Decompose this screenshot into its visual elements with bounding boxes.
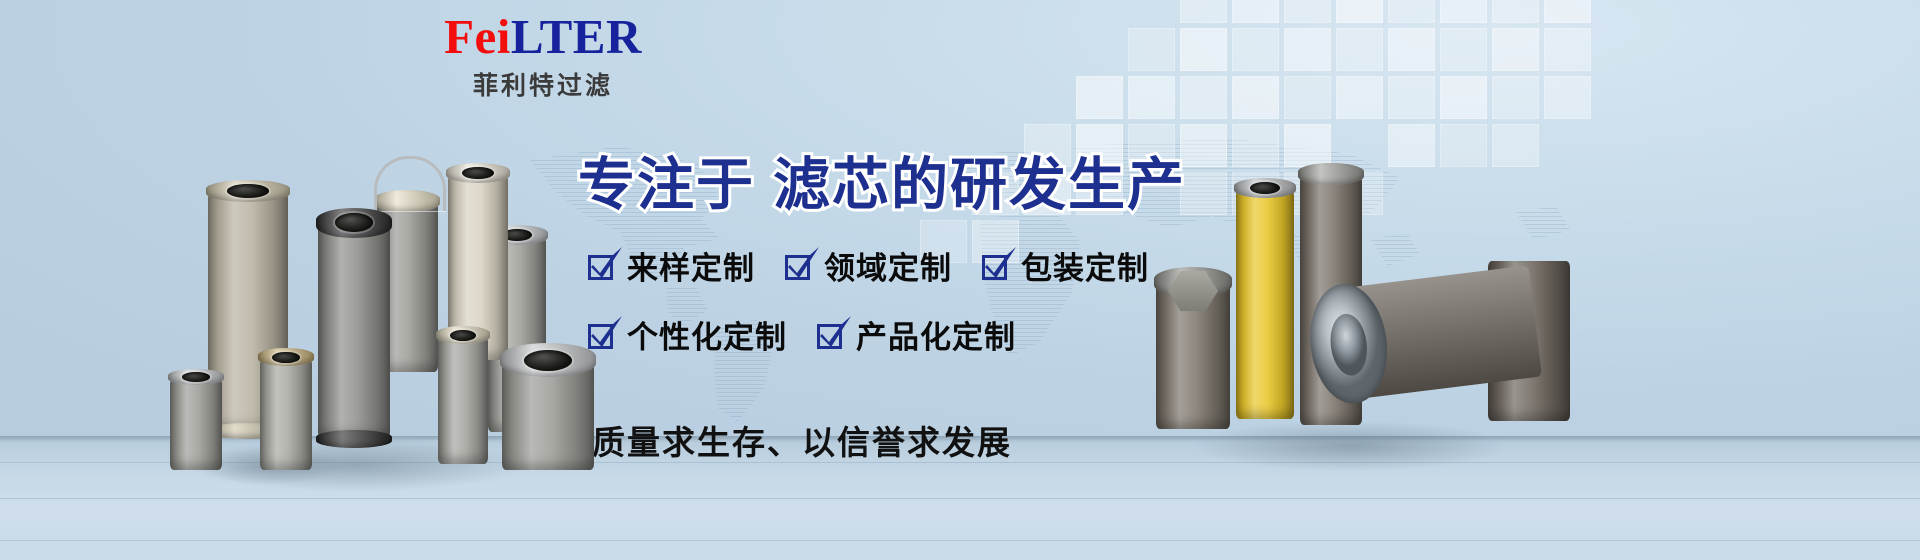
cartridge-bore [227, 184, 269, 198]
filter-cartridge-group-left [150, 140, 620, 470]
filter-cartridge [1236, 189, 1294, 419]
cartridge-bore [524, 350, 572, 371]
feature-item[interactable]: 产品化定制 [817, 312, 1016, 357]
filter-cartridge [260, 358, 312, 470]
cartridge-handle [374, 156, 446, 211]
mosaic-square [1284, 76, 1331, 119]
checkbox-checked-icon [982, 251, 1012, 281]
mosaic-square [1076, 76, 1123, 119]
mosaic-square [1544, 0, 1591, 23]
filter-cartridge-group-right [1140, 165, 1570, 465]
cartridge-bore [335, 213, 372, 232]
feature-label: 领域定制 [824, 243, 952, 288]
checkbox-checked-icon [588, 320, 618, 350]
checkbox-checked-icon [817, 320, 847, 350]
mosaic-square [1440, 0, 1487, 23]
mosaic-square [1336, 28, 1383, 71]
mosaic-square [1232, 0, 1279, 23]
check-mark-icon [786, 247, 820, 281]
cartridge-bore [272, 352, 299, 363]
mosaic-square [1388, 0, 1435, 23]
feature-list: 来样定制领域定制包装定制个性化定制产品化定制 [588, 243, 1208, 381]
mosaic-square [1180, 124, 1227, 167]
cartridge-bore [182, 372, 209, 382]
logo-chinese-name: 菲利特过滤 [393, 66, 693, 102]
feature-row: 来样定制领域定制包装定制 [588, 243, 1208, 288]
mosaic-square [1180, 28, 1227, 71]
filter-cartridge [438, 336, 488, 464]
mosaic-square [1284, 124, 1331, 167]
feature-item[interactable]: 包装定制 [982, 243, 1149, 288]
mosaic-square [1336, 76, 1383, 119]
mosaic-square [1492, 28, 1539, 71]
logo-wordmark: FeiLTER [393, 12, 693, 62]
check-mark-icon [589, 247, 623, 281]
mosaic-square [1284, 28, 1331, 71]
mosaic-square [1544, 76, 1591, 119]
mosaic-square [1440, 28, 1487, 71]
headline: 专注于滤芯的研发生产 [578, 139, 1186, 221]
feature-item[interactable]: 个性化定制 [588, 312, 787, 357]
mosaic-square [1232, 28, 1279, 71]
mosaic-square [1492, 124, 1539, 167]
mosaic-square [1388, 124, 1435, 167]
mosaic-square [1388, 76, 1435, 119]
mosaic-square [1180, 76, 1227, 119]
brand-logo: FeiLTER 菲利特过滤 [393, 12, 693, 102]
checkbox-checked-icon [785, 251, 815, 281]
mosaic-square [1128, 28, 1175, 71]
feature-item[interactable]: 领域定制 [785, 243, 952, 288]
promo-banner: FeiLTER 菲利特过滤 专注于滤芯的研发生产 来样定制领域定制包装定制个性化… [0, 0, 1920, 560]
check-mark-icon [818, 316, 852, 350]
mosaic-square [1492, 0, 1539, 23]
logo-word-fei: Fei [444, 9, 511, 64]
mosaic-square [1336, 0, 1383, 23]
check-mark-icon [983, 247, 1017, 281]
mosaic-square [1440, 76, 1487, 119]
filter-cartridge [502, 362, 594, 470]
checkbox-checked-icon [588, 251, 618, 281]
check-mark-icon [589, 316, 623, 350]
mosaic-square [1440, 124, 1487, 167]
mosaic-square [1232, 76, 1279, 119]
feature-label: 包装定制 [1021, 243, 1149, 288]
cartridge-bore [462, 167, 493, 179]
feature-label: 产品化定制 [856, 312, 1016, 357]
filter-cartridge [318, 224, 390, 438]
cartridge-bore [450, 330, 476, 341]
cartridge-end-cap [1298, 163, 1364, 185]
logo-word-lter: LTER [511, 9, 642, 64]
mosaic-square [1544, 28, 1591, 71]
mosaic-square [1492, 76, 1539, 119]
cartridge-base-cap [316, 430, 392, 448]
filter-cartridge [170, 378, 222, 470]
headline-lead: 专注于 [578, 152, 755, 218]
headline-rest: 滤芯的研发生产 [773, 152, 1186, 218]
feature-label: 个性化定制 [627, 312, 787, 357]
mosaic-square [1284, 0, 1331, 23]
mosaic-square [1388, 28, 1435, 71]
feature-item[interactable]: 来样定制 [588, 243, 755, 288]
mosaic-square [1232, 124, 1279, 167]
mosaic-square [1180, 0, 1227, 23]
mosaic-square [1128, 76, 1175, 119]
feature-row: 个性化定制产品化定制 [588, 312, 1208, 357]
feature-label: 来样定制 [627, 243, 755, 288]
tagline: 以质量求生存、以信誉求发展 [557, 416, 1012, 464]
